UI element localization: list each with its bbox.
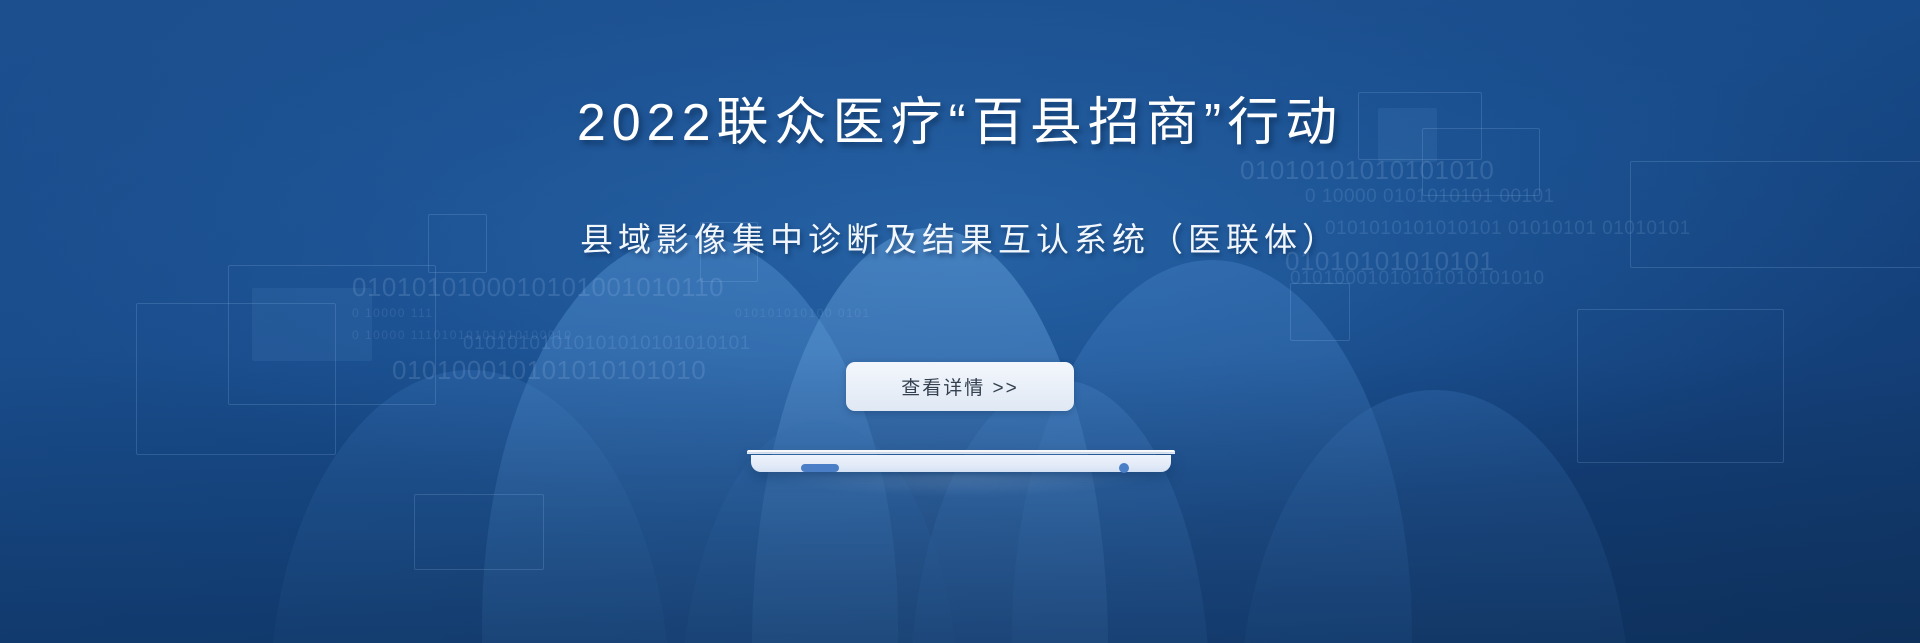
banner-title: 2022联众医疗“百县招商”行动 bbox=[0, 92, 1920, 154]
device-body bbox=[751, 455, 1171, 472]
banner-subtitle: 县域影像集中诊断及结果互认系统（医联体） bbox=[0, 219, 1920, 261]
decor-rect-right-small bbox=[1290, 283, 1350, 341]
device-illustration bbox=[747, 450, 1175, 478]
device-indicator-icon bbox=[1119, 463, 1129, 473]
decor-rect-bottom-left bbox=[414, 494, 544, 570]
decor-rect-left-fill bbox=[252, 288, 372, 361]
device-screen-edge bbox=[747, 450, 1175, 454]
view-details-button[interactable]: 查看详情 >> bbox=[846, 362, 1074, 411]
cta-container: 查看详情 >> bbox=[0, 362, 1920, 411]
device-port-icon bbox=[801, 464, 839, 472]
device-glow bbox=[767, 474, 1157, 496]
promo-banner: 0101010100010101001010110 0 10000 111 01… bbox=[0, 0, 1920, 643]
